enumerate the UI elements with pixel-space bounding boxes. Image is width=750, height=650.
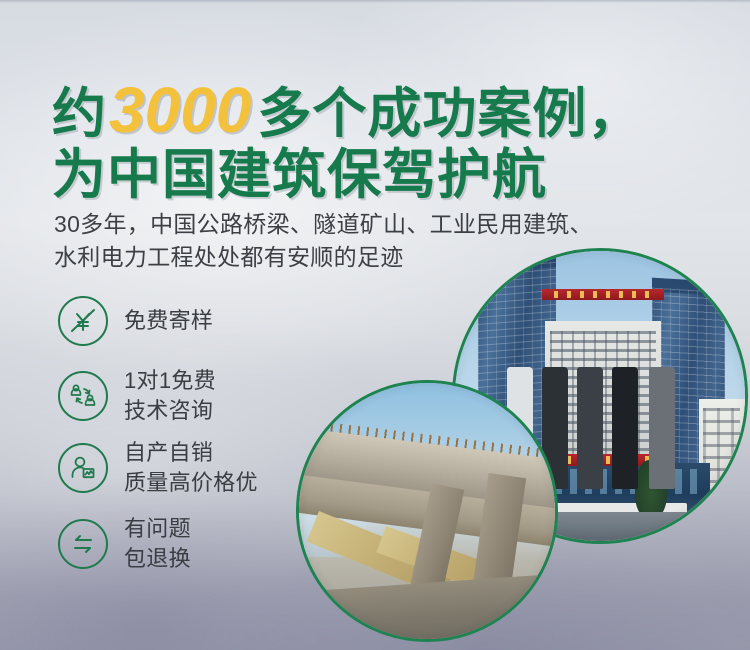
headline-number: 3000: [107, 74, 257, 146]
headline-prefix: 约: [52, 84, 107, 144]
person-chart-icon: [58, 443, 108, 493]
subtitle: 30多年，中国公路桥梁、隧道矿山、工业民用建筑、 水利电力工程处处都有安顺的足迹: [54, 208, 593, 273]
two-people-exchange-icon: [58, 371, 108, 421]
feature-label-self-production: 自产自销 质量高价格优: [124, 438, 258, 498]
feature-label-line-2: 包退换: [124, 544, 191, 574]
feature-label-line-2: 技术咨询: [124, 396, 216, 426]
feature-label-line-1: 免费寄样: [124, 306, 213, 336]
subtitle-line-1: 30多年，中国公路桥梁、隧道矿山、工业民用建筑、: [54, 208, 593, 241]
headline-line-1: 约3000多个成功案例，: [52, 78, 642, 142]
feature-item-return-exchange: 有问题 包退换: [58, 514, 258, 574]
feature-item-self-production: 自产自销 质量高价格优: [58, 438, 258, 498]
hotel-sign-upper: [542, 289, 664, 301]
no-fee-yuan-icon: [58, 296, 108, 346]
feature-list: 免费寄样 1对1免费 技术咨询: [58, 296, 258, 573]
feature-label-line-2: 质量高价格优: [124, 468, 258, 498]
feature-label-consultation: 1对1免费 技术咨询: [124, 366, 216, 426]
headline: 约3000多个成功案例， 为中国建筑保驾护航: [52, 78, 642, 202]
promo-banner: 约3000多个成功案例， 为中国建筑保驾护航 30多年，中国公路桥梁、隧道矿山、…: [0, 0, 750, 650]
feature-label-free-sample: 免费寄样: [124, 306, 213, 336]
feature-label-line-1: 1对1免费: [124, 366, 216, 396]
headline-line-2: 为中国建筑保驾护航: [52, 148, 642, 202]
feature-item-consultation: 1对1免费 技术咨询: [58, 366, 258, 426]
bridge-ground: [296, 572, 558, 642]
subtitle-line-2: 水利电力工程处处都有安顺的足迹: [54, 241, 593, 274]
background-top-edge: [0, 0, 750, 3]
parked-car: [649, 367, 675, 489]
parked-car: [612, 367, 638, 489]
bridge-underside-photo: [296, 380, 558, 642]
headline-suffix: 多个成功案例，: [257, 84, 642, 144]
feature-label-line-1: 有问题: [124, 514, 191, 544]
bridge-scene: [299, 383, 555, 639]
return-exchange-arrows-icon: [58, 519, 108, 569]
feature-label-line-1: 自产自销: [124, 438, 258, 468]
feature-item-free-sample: 免费寄样: [58, 296, 258, 346]
parked-car: [577, 367, 603, 489]
feature-label-return-exchange: 有问题 包退换: [124, 514, 191, 574]
